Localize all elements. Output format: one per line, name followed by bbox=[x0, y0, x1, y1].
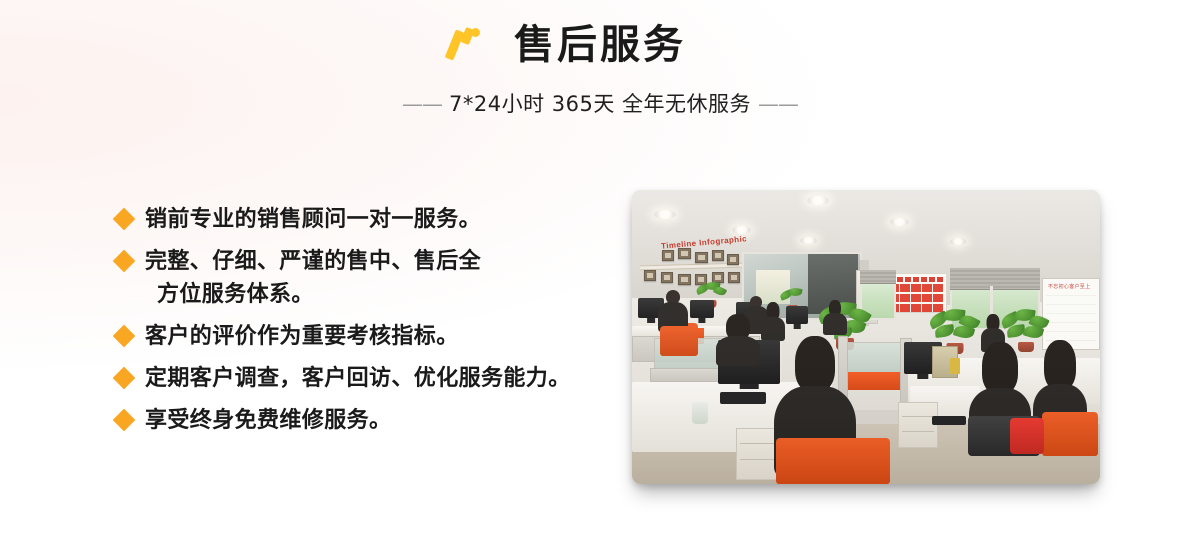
window-blind bbox=[950, 268, 1040, 290]
certificate-frame bbox=[695, 252, 708, 263]
list-item: 客户的评价作为重要考核指标。 bbox=[116, 320, 626, 353]
monitor bbox=[690, 300, 714, 318]
certificate-frame bbox=[678, 248, 691, 259]
quote-mark-right-icon bbox=[712, 25, 756, 65]
list-item-line-1: 完整、仔细、严谨的售中、售后全 bbox=[145, 249, 481, 274]
person-left-seated bbox=[714, 314, 762, 362]
office-chair bbox=[1042, 412, 1098, 456]
list-item: 定期客户调查，客户回访、优化服务能力。 bbox=[116, 362, 626, 395]
diamond-bullet-icon bbox=[113, 250, 136, 273]
office-photo-scene: Timeline Infographic bbox=[632, 190, 1100, 484]
monitor bbox=[786, 306, 808, 324]
keyboard bbox=[932, 416, 966, 425]
red-bag bbox=[1010, 418, 1044, 454]
title-row: 售后服务 bbox=[0, 17, 1200, 73]
list-item: 享受终身免费维修服务。 bbox=[116, 404, 626, 437]
honour-board-title bbox=[889, 277, 943, 282]
ceiling-light bbox=[654, 210, 676, 219]
certificate-frame bbox=[712, 250, 724, 261]
desk-stationery bbox=[950, 358, 960, 374]
ceiling-light bbox=[890, 218, 909, 226]
certificate-frame bbox=[661, 272, 673, 283]
page-canvas: 售后服务 —— 7*24小时 365天 全年无休服务 —— 销前专业的销售顾问一… bbox=[0, 0, 1200, 556]
page-subtitle: 7*24小时 365天 全年无休服务 bbox=[442, 90, 758, 118]
diamond-bullet-icon bbox=[113, 409, 136, 432]
window-blind bbox=[860, 270, 896, 284]
certificate-frame bbox=[678, 274, 691, 285]
list-item-label: 享受终身免费维修服务。 bbox=[145, 404, 391, 437]
ceiling-light bbox=[800, 237, 817, 244]
page-title: 售后服务 bbox=[514, 22, 686, 68]
diamond-bullet-icon bbox=[113, 367, 136, 390]
list-item: 完整、仔细、严谨的售中、售后全 方位服务体系。 bbox=[116, 245, 626, 311]
list-item-label: 销前专业的销售顾问一对一服务。 bbox=[145, 203, 481, 236]
office-chair bbox=[660, 326, 698, 356]
certificate-frame bbox=[727, 254, 739, 265]
feature-list: 销前专业的销售顾问一对一服务。 完整、仔细、严谨的售中、售后全 方位服务体系。 … bbox=[116, 203, 626, 446]
water-glass bbox=[692, 402, 708, 424]
list-item-label: 定期客户调查，客户回访、优化服务能力。 bbox=[145, 362, 571, 395]
person-back-3 bbox=[760, 302, 786, 336]
whiteboard-title: 不忘初心客户至上 bbox=[1048, 283, 1090, 290]
list-item-label: 完整、仔细、严谨的售中、售后全 方位服务体系。 bbox=[145, 245, 481, 311]
list-item-line-2: 方位服务体系。 bbox=[145, 278, 481, 311]
subtitle-dash-right: —— bbox=[758, 90, 798, 118]
list-item: 销前专业的销售顾问一对一服务。 bbox=[116, 203, 626, 236]
certificate-frame bbox=[728, 272, 740, 283]
diamond-bullet-icon bbox=[113, 325, 136, 348]
subtitle-row: —— 7*24小时 365天 全年无休服务 —— bbox=[0, 90, 1200, 118]
office-chair bbox=[776, 438, 890, 484]
ceiling-light bbox=[950, 238, 966, 245]
person-back-4 bbox=[822, 300, 848, 332]
desk-drawer-unit bbox=[898, 402, 938, 448]
quote-mark-left-icon bbox=[444, 25, 488, 65]
subtitle-dash-left: —— bbox=[402, 90, 442, 118]
ceiling-light bbox=[807, 196, 829, 205]
office-photo: Timeline Infographic bbox=[632, 190, 1100, 484]
certificate-frame bbox=[644, 270, 656, 281]
certificate-frame bbox=[662, 250, 674, 261]
keyboard bbox=[720, 392, 766, 404]
ceiling-light bbox=[732, 226, 751, 234]
person-back-1 bbox=[656, 290, 690, 330]
diamond-bullet-icon bbox=[113, 208, 136, 231]
list-item-label: 客户的评价作为重要考核指标。 bbox=[145, 320, 459, 353]
